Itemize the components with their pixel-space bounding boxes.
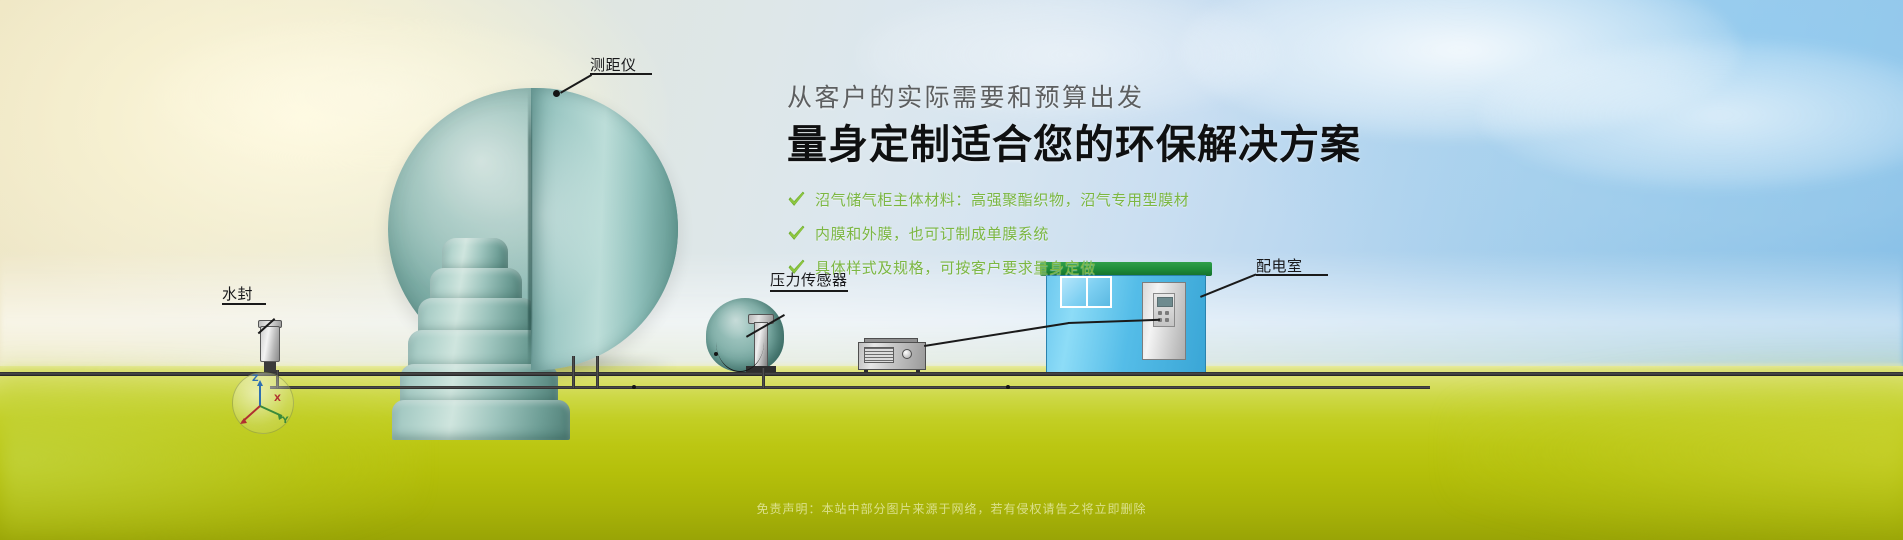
pipe-drop-riser: [596, 356, 599, 388]
bullet-text: 内膜和外膜，也可订制成单膜系统: [815, 223, 1049, 244]
pipe-drop-riser: [762, 368, 765, 388]
main-headline: 量身定制适合您的环保解决方案: [787, 122, 1547, 169]
pipe-joint-dot: [632, 385, 636, 389]
membrane-tier: [408, 330, 548, 368]
compressor-grill: [864, 347, 894, 363]
pipe-joint-dot: [1006, 385, 1010, 389]
water-seal-body: [260, 326, 280, 362]
bullet-item: 沼气储气柜主体材料：高强聚酯织物，沼气专用型膜材: [787, 189, 1547, 210]
check-mark-icon: [787, 224, 806, 243]
biogas-dome: [388, 88, 678, 370]
pipe-drop-riser: [572, 356, 575, 388]
bullet-text: 具体样式及规格，可按客户要求量身定做: [815, 257, 1096, 278]
bullet-item: 内膜和外膜，也可订制成单膜系统: [787, 223, 1547, 244]
gizmo-label-y: Y: [282, 416, 289, 426]
compressor-dial: [902, 349, 912, 359]
bullet-text: 沼气储气柜主体材料：高强聚酯织物，沼气专用型膜材: [815, 189, 1189, 210]
label-water-seal: 水封: [222, 283, 253, 304]
bullet-item: 具体样式及规格，可按客户要求量身定做: [787, 257, 1547, 278]
disclaimer-text: 免责声明：本站中部分图片来源于网络，若有侵权请告之将立即删除: [0, 500, 1903, 517]
gizmo-label-z: Z: [252, 374, 259, 384]
control-panel-screen: [1157, 297, 1173, 307]
check-mark-icon: [787, 190, 806, 209]
membrane-tier: [418, 298, 536, 334]
label-rangefinder: 测距仪: [590, 54, 637, 75]
water-seal-unit: [258, 318, 282, 370]
sensor-cable: [716, 312, 764, 372]
feature-bullet-list: 沼气储气柜主体材料：高强聚酯织物，沼气专用型膜材 内膜和外膜，也可订制成单膜系统…: [787, 189, 1547, 278]
axis-gizmo: Z X Y: [232, 372, 294, 434]
control-panel-button: [1158, 311, 1162, 315]
water-seal-foot: [264, 362, 276, 372]
marketing-copy-block: 从客户的实际需要和预算出发 量身定制适合您的环保解决方案 沼气储气柜主体材料：高…: [787, 82, 1547, 291]
control-panel: [1153, 293, 1175, 327]
check-mark-icon: [787, 258, 806, 277]
control-panel-button: [1165, 311, 1169, 315]
hero-banner: 测距仪 水封 压力传感器: [0, 0, 1903, 540]
subheadline: 从客户的实际需要和预算出发: [787, 82, 1547, 115]
membrane-tier: [392, 400, 570, 440]
membrane-tier: [430, 268, 522, 302]
gizmo-label-x: X: [274, 394, 281, 404]
compressor-unit: [858, 338, 926, 372]
membrane-tier: [400, 364, 558, 404]
dome-cutaway-shell: [531, 88, 678, 370]
membrane-tier: [442, 238, 508, 272]
dome-cut-edge: [528, 90, 532, 368]
dome-inner-membrane-stack: [404, 238, 544, 443]
room-door: [1142, 282, 1186, 360]
secondary-ground-pipe: [270, 386, 1430, 389]
control-panel-button: [1165, 318, 1169, 322]
cable-anchor-dot: [714, 352, 718, 356]
